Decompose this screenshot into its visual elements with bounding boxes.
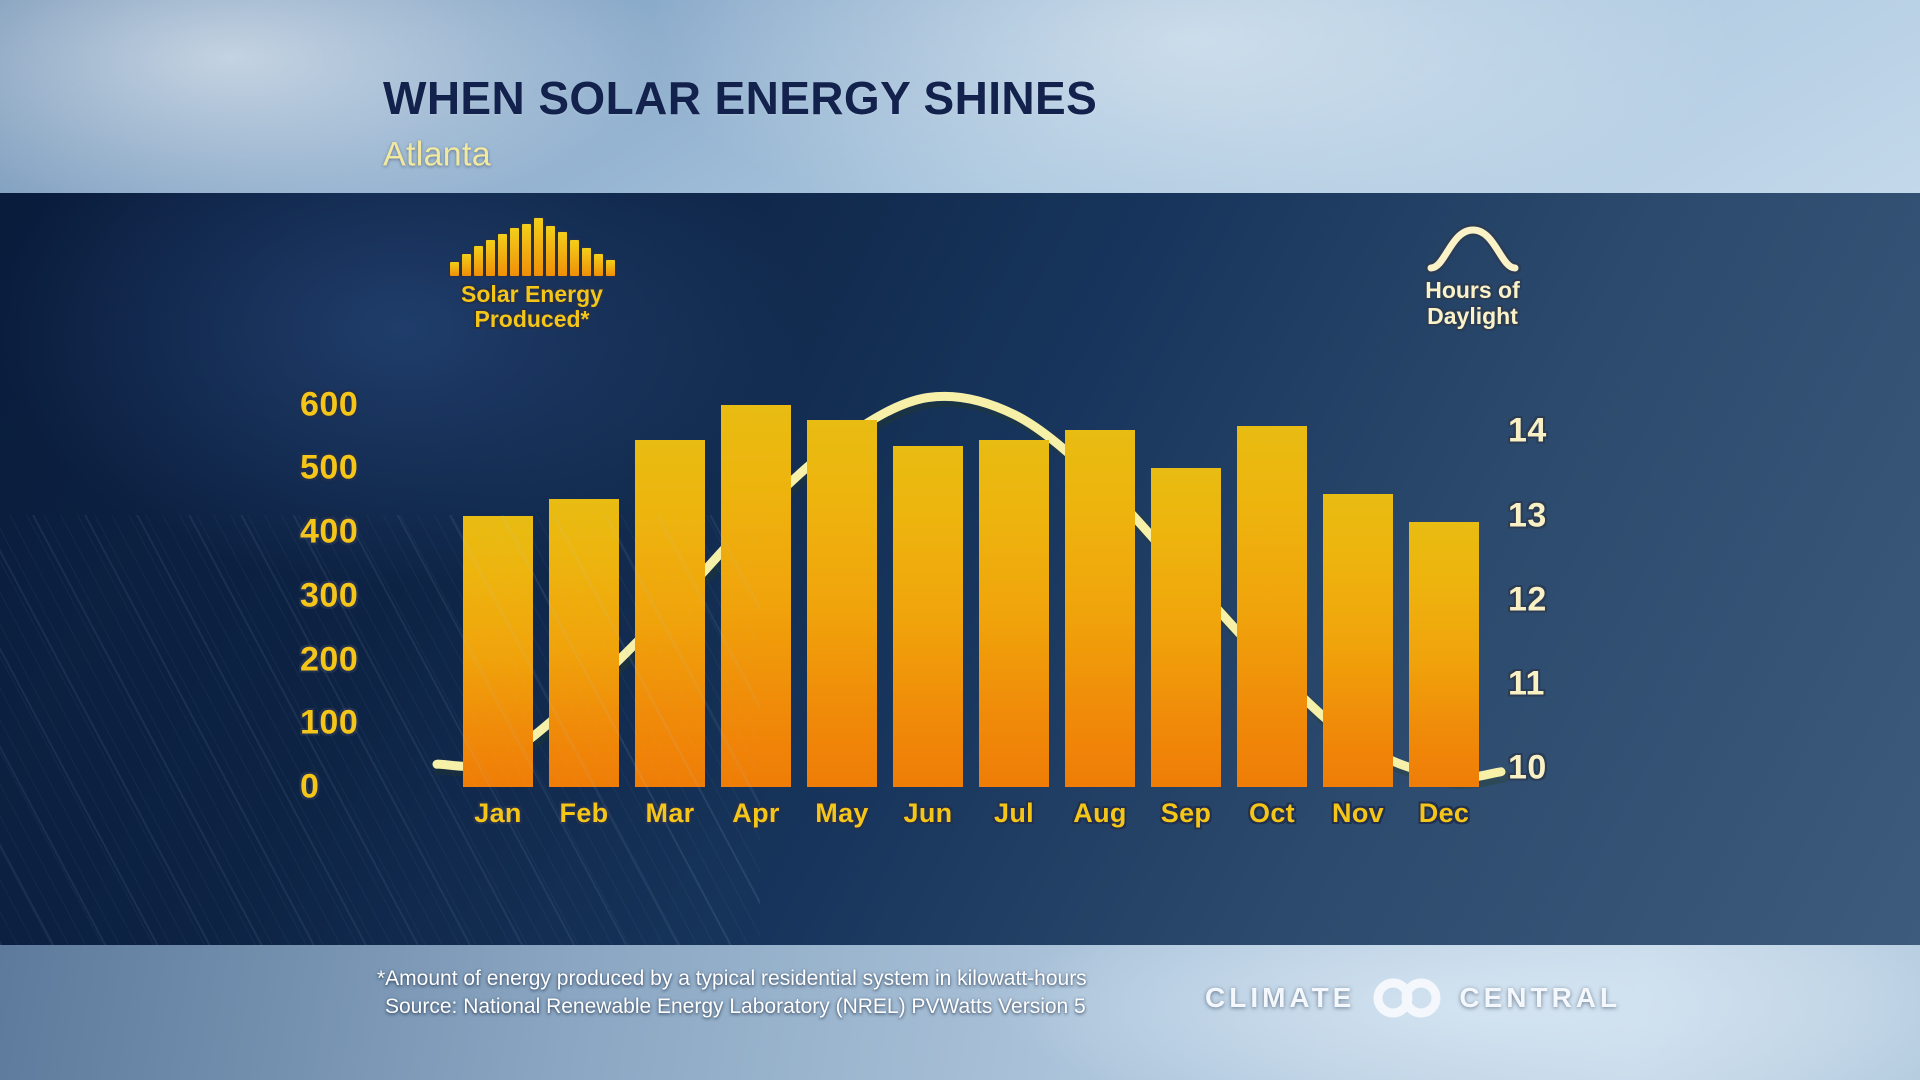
month-label-nov: Nov xyxy=(1311,798,1405,829)
month-label-jan: Jan xyxy=(451,798,545,829)
bar-apr xyxy=(721,405,791,788)
daylight-arc-icon xyxy=(1425,222,1521,274)
y-axis-left-tick-200: 200 xyxy=(300,640,430,679)
y-axis-right-tick-10: 10 xyxy=(1508,749,1547,788)
month-label-aug: Aug xyxy=(1053,798,1147,829)
chart-panel: JanFebMarAprMayJunJulAugSepOctNovDec0100… xyxy=(0,193,1920,945)
bar-aug xyxy=(1065,430,1135,787)
legend-daylight-line1: Hours of xyxy=(1380,278,1565,304)
source-footnote: *Amount of energy produced by a typical … xyxy=(377,965,1087,1020)
page-title: WHEN SOLAR ENERGY SHINES xyxy=(383,71,1097,125)
bar-jun xyxy=(893,446,963,787)
legend-hours-of-daylight: Hours of Daylight xyxy=(1380,218,1565,330)
bar-dec xyxy=(1409,522,1479,787)
header-band: WHEN SOLAR ENERGY SHINES Atlanta xyxy=(0,0,1920,193)
footer-band: *Amount of energy produced by a typical … xyxy=(0,945,1920,1080)
month-label-apr: Apr xyxy=(709,798,803,829)
y-axis-left-tick-100: 100 xyxy=(300,704,430,743)
month-label-jul: Jul xyxy=(967,798,1061,829)
interlocking-rings-icon xyxy=(1369,978,1445,1018)
month-label-feb: Feb xyxy=(537,798,631,829)
bar-oct xyxy=(1237,426,1307,787)
climate-central-logo: CLIMATE CENTRAL xyxy=(1205,978,1621,1018)
bar-sep xyxy=(1151,468,1221,787)
month-label-mar: Mar xyxy=(623,798,717,829)
bar-may xyxy=(807,420,877,787)
bar-feb xyxy=(549,499,619,787)
y-axis-right-tick-12: 12 xyxy=(1508,580,1547,619)
legend-daylight-line2: Daylight xyxy=(1380,304,1565,330)
legend-solar-line1: Solar Energy xyxy=(447,282,617,307)
logo-word-climate: CLIMATE xyxy=(1205,982,1355,1014)
legend-solar-energy: Solar Energy Produced* xyxy=(447,218,617,333)
page-subtitle-location: Atlanta xyxy=(383,136,491,175)
bar-nov xyxy=(1323,494,1393,787)
y-axis-right-tick-11: 11 xyxy=(1508,665,1545,704)
month-label-dec: Dec xyxy=(1397,798,1491,829)
plot-area: JanFebMarAprMayJunJulAugSepOctNovDec0100… xyxy=(0,193,1920,945)
y-axis-left-tick-0: 0 xyxy=(300,768,430,807)
bar-jul xyxy=(979,440,1049,787)
logo-word-central: CENTRAL xyxy=(1459,982,1621,1014)
y-axis-right-tick-14: 14 xyxy=(1508,412,1547,451)
month-label-jun: Jun xyxy=(881,798,975,829)
footnote-line-2: Source: National Renewable Energy Labora… xyxy=(377,993,1087,1021)
bar-jan xyxy=(463,516,533,787)
y-axis-right-tick-13: 13 xyxy=(1508,496,1547,535)
y-axis-left-tick-300: 300 xyxy=(300,576,430,615)
infographic-canvas: WHEN SOLAR ENERGY SHINES Atlanta JanFebM… xyxy=(0,0,1920,1080)
month-label-sep: Sep xyxy=(1139,798,1233,829)
month-label-oct: Oct xyxy=(1225,798,1319,829)
month-label-may: May xyxy=(795,798,889,829)
footnote-line-1: *Amount of energy produced by a typical … xyxy=(377,967,1087,990)
y-axis-left-tick-600: 600 xyxy=(300,385,430,424)
y-axis-left-tick-500: 500 xyxy=(300,449,430,488)
y-axis-left-tick-400: 400 xyxy=(300,513,430,552)
legend-solar-line2: Produced* xyxy=(447,307,617,332)
bar-mar xyxy=(635,440,705,787)
bar-chart-icon xyxy=(447,218,617,276)
